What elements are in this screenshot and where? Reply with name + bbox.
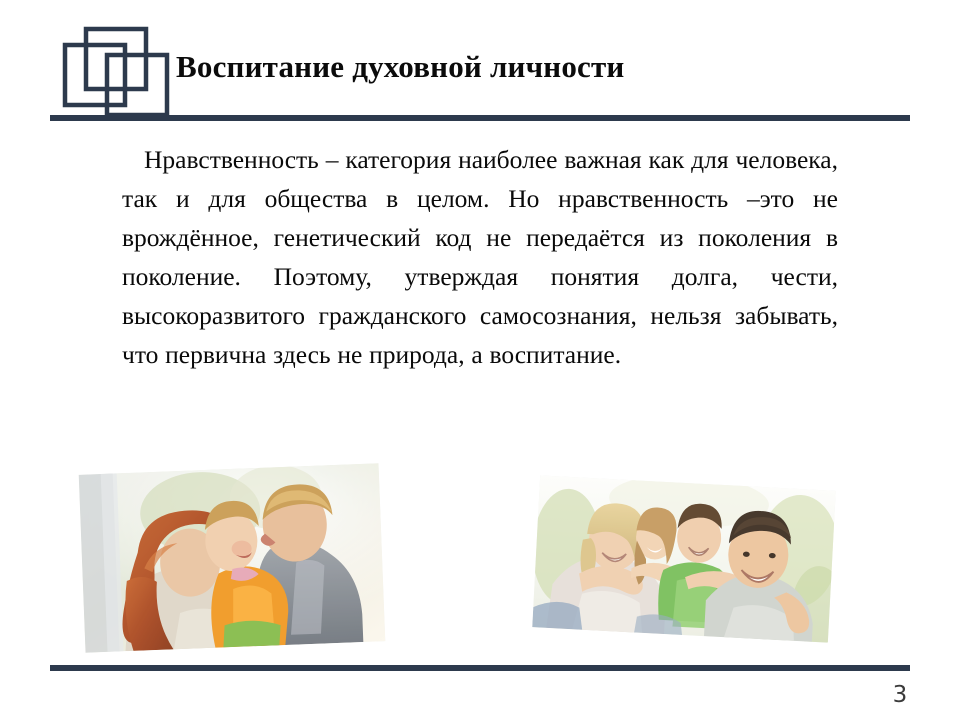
photo-right-artwork [532,475,836,642]
slide-header: Воспитание духовной личности [0,0,960,125]
photo-family-parents-kissing-toddler [79,463,386,652]
footer-divider [50,665,910,671]
page-number: 3 [880,682,920,708]
presentation-slide: Воспитание духовной личности Нравственно… [0,0,960,720]
photo-group [0,455,960,670]
page-title: Воспитание духовной личности [176,48,916,86]
body-text: Нравственность – категория наиболее важн… [122,140,838,374]
photo-left-artwork [79,463,386,652]
header-divider [50,115,910,121]
three-overlapping-squares-logo [62,26,177,118]
photo-family-piggyback-outdoors [532,475,836,642]
body-paragraph: Нравственность – категория наиболее важн… [122,140,838,374]
